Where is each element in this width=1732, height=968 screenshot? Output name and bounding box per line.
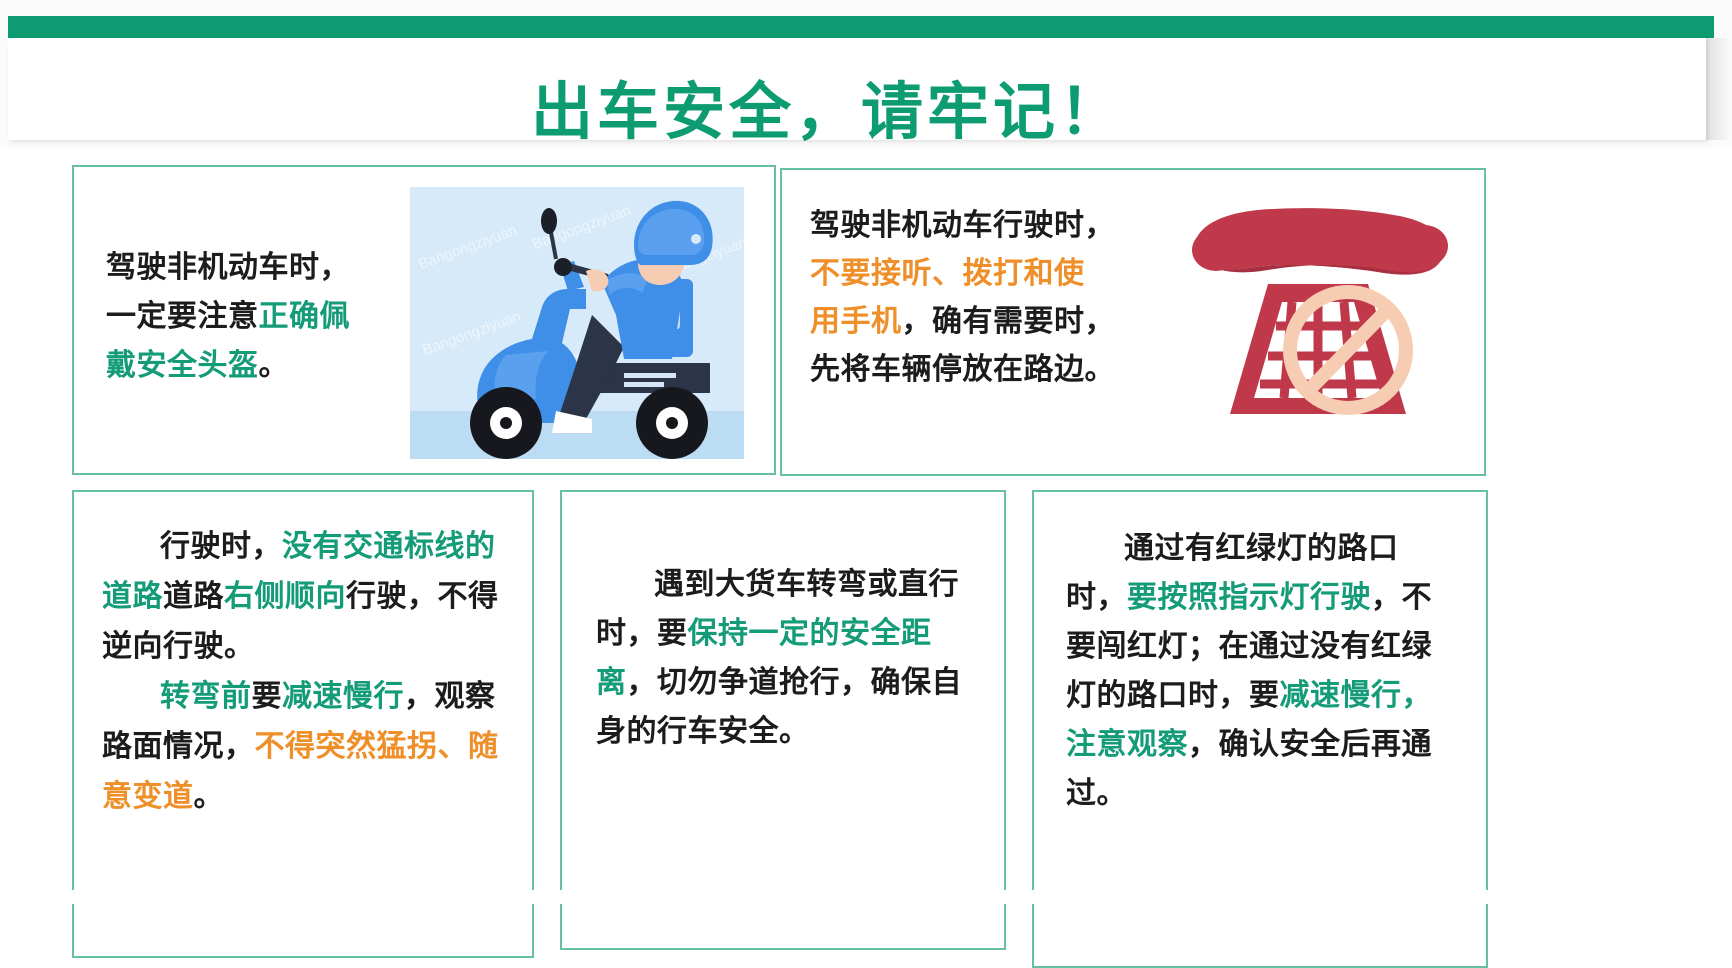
card-lane-text: 行驶时，没有交通标线的道路道路右侧顺向行驶，不得逆向行驶。 转弯前要减速慢行，观… xyxy=(102,522,507,822)
helmet-line3-highlight: 戴安全头盔 xyxy=(106,349,259,382)
helmet-line1: 驾驶非机动车时， xyxy=(106,251,350,284)
card-helmet: 驾驶非机动车时， 一定要注意正确佩 戴安全头盔。 Bangongziyuan B… xyxy=(72,165,776,475)
phone-line4: 先将车辆停放在路边。 xyxy=(810,353,1115,386)
card-traffic-light-text: 通过有红绿灯的路口时，要按照指示灯行驶，不要闯红灯；在通过没有红绿灯的路口时，要… xyxy=(1066,524,1456,818)
lane-p2-green-b: 减速慢行 xyxy=(282,680,404,713)
light-green-a: 要按照指示灯行驶 xyxy=(1127,581,1371,614)
card-truck: 遇到大货车转弯或直行时，要保持一定的安全距离，切勿争道抢行，确保自身的行车安全。 xyxy=(560,490,1006,950)
phone-line2-highlight: 不要接听、拨打和使 xyxy=(810,257,1085,290)
lane-p2-green-a: 转弯前 xyxy=(160,680,252,713)
lane-p2-plain-a: 要 xyxy=(252,680,283,713)
helmet-line2-highlight: 正确佩 xyxy=(259,300,351,333)
card-phone: 驾驶非机动车行驶时， 不要接听、拨打和使 用手机，确有需要时， 先将车辆停放在路… xyxy=(780,168,1486,476)
scooter-rider-illustration: Bangongziyuan Bangongziyuan Bangongziyua… xyxy=(410,187,744,459)
helmet-line2-plain: 一定要注意 xyxy=(106,300,259,333)
page-edge-shadow xyxy=(1706,38,1732,140)
phone-line3-highlight: 用手机 xyxy=(810,305,902,338)
scooter-svg xyxy=(410,187,744,459)
lane-p1-plain-c: 行驶， xyxy=(346,580,438,613)
card-helmet-text: 驾驶非机动车时， 一定要注意正确佩 戴安全头盔。 xyxy=(106,243,406,390)
helmet-line3-plain: 。 xyxy=(259,349,290,382)
header: 出车安全，请牢记！ xyxy=(0,0,1732,148)
page-bottom-margin xyxy=(0,890,1732,904)
phone-line3-plain: ，确有需要时， xyxy=(902,305,1116,338)
truck-plain-b: ，切勿争道抢行，确保自身的行车安全。 xyxy=(596,666,962,748)
lane-p1-green-c: 右侧顺向 xyxy=(224,580,346,613)
page-title: 出车安全，请牢记！ xyxy=(8,78,1648,148)
header-accent-bar xyxy=(8,16,1714,38)
card-lane: 行驶时，没有交通标线的道路道路右侧顺向行驶，不得逆向行驶。 转弯前要减速慢行，观… xyxy=(72,490,534,958)
lane-p1-plain-b: 道路 xyxy=(163,580,224,613)
header-panel: 出车安全，请牢记！ xyxy=(8,38,1706,140)
lane-p2-plain-c: 。 xyxy=(194,780,225,813)
lane-p2-orange-a: 不得突然猛拐、 xyxy=(255,730,469,763)
phone-line1: 驾驶非机动车行驶时， xyxy=(810,209,1115,242)
poster-page: 出车安全，请牢记！ 驾驶非机动车时， 一定要注意正确佩 戴安全头盔。 Bango… xyxy=(0,0,1732,904)
lane-p1-plain-a: 行驶时， xyxy=(160,530,282,563)
card-truck-text: 遇到大货车转弯或直行时，要保持一定的安全距离，切勿争道抢行，确保自身的行车安全。 xyxy=(596,560,966,756)
no-phone-svg xyxy=(1172,198,1462,428)
lane-p1-green-a: 没有交通标线 xyxy=(282,530,465,563)
card-phone-text: 驾驶非机动车行驶时， 不要接听、拨打和使 用手机，确有需要时， 先将车辆停放在路… xyxy=(810,202,1180,394)
no-phone-illustration xyxy=(1172,198,1462,428)
